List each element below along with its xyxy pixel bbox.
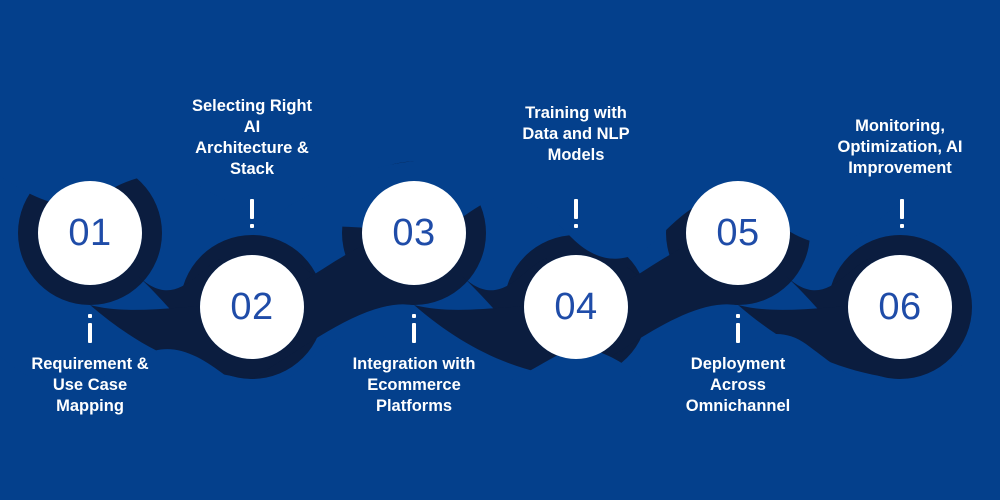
step-disc-06[interactable]: 06	[848, 255, 952, 359]
step-number-01: 01	[68, 212, 111, 255]
connector-mark-04	[569, 194, 583, 228]
step-label-06: Monitoring, Optimization, AI Improvement	[805, 116, 995, 179]
step-number-05: 05	[716, 212, 759, 255]
connector-dot	[412, 314, 416, 318]
connector-dot	[250, 224, 254, 228]
connector-dot	[574, 224, 578, 228]
step-number-02: 02	[230, 286, 273, 329]
connector-bar	[412, 323, 416, 343]
step-label-01: Requirement & Use Case Mapping	[0, 354, 185, 417]
step-label-02: Selecting Right AI Architecture & Stack	[157, 96, 347, 180]
infographic-canvas: Empowering Customers with Technology	[0, 0, 1000, 500]
connector-mark-01	[83, 314, 97, 348]
connector-dot	[88, 314, 92, 318]
connector-bar	[574, 199, 578, 219]
step-number-06: 06	[878, 286, 921, 329]
step-number-04: 04	[554, 286, 597, 329]
step-disc-04[interactable]: 04	[524, 255, 628, 359]
connector-dot	[736, 314, 740, 318]
connector-bar	[900, 199, 904, 219]
step-disc-02[interactable]: 02	[200, 255, 304, 359]
connector-dot	[900, 224, 904, 228]
connector-bar	[250, 199, 254, 219]
process-chain-shape	[0, 0, 1000, 500]
connector-bar	[88, 323, 92, 343]
step-number-03: 03	[392, 212, 435, 255]
step-disc-01[interactable]: 01	[38, 181, 142, 285]
connector-bar	[736, 323, 740, 343]
step-label-04: Training with Data and NLP Models	[481, 103, 671, 166]
step-label-05: Deployment Across Omnichannel	[643, 354, 833, 417]
connector-mark-03	[407, 314, 421, 348]
connector-mark-06	[895, 194, 909, 228]
connector-mark-05	[731, 314, 745, 348]
step-disc-03[interactable]: 03	[362, 181, 466, 285]
step-label-03: Integration with Ecommerce Platforms	[319, 354, 509, 417]
connector-mark-02	[245, 194, 259, 228]
step-disc-05[interactable]: 05	[686, 181, 790, 285]
